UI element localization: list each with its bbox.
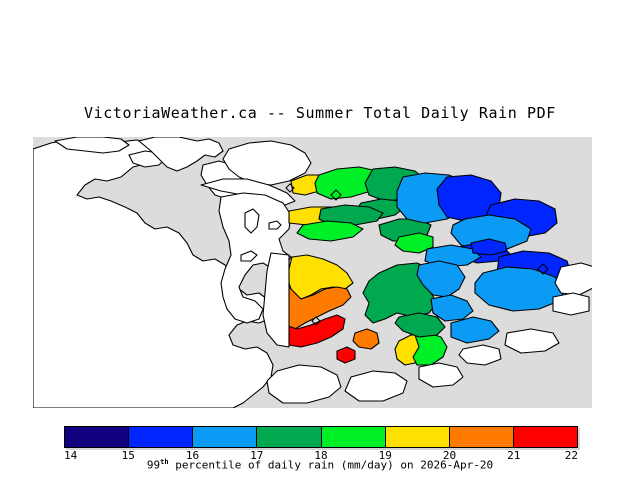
colorbar-band-6: [449, 427, 513, 447]
map-canvas: [33, 137, 592, 408]
colorbar-band-7: [513, 427, 577, 447]
east-white-land-2: [553, 293, 589, 315]
colorbar-caption-rest: percentile of daily rain (mm/day) on 202…: [169, 459, 494, 472]
figure-title: VictoriaWeather.ca -- Summer Total Daily…: [0, 104, 640, 122]
east-white-land: [555, 263, 592, 295]
colorbar-caption-ordinal: th: [160, 458, 168, 466]
colorbar-band-1: [128, 427, 192, 447]
colorbar[interactable]: [64, 426, 578, 448]
colorbar-caption-prefix: 99: [147, 459, 160, 472]
colorbar-band-3: [256, 427, 320, 447]
map-svg: [33, 137, 592, 408]
colorbar-caption: 99th percentile of daily rain (mm/day) o…: [0, 458, 640, 472]
region-discovery-island: [337, 347, 355, 363]
colorbar-band-0: [65, 427, 128, 447]
weather-map-figure: VictoriaWeather.ca -- Summer Total Daily…: [0, 0, 640, 480]
colorbar-band-4: [321, 427, 385, 447]
colorbar-band-2: [192, 427, 256, 447]
colorbar-band-5: [385, 427, 449, 447]
